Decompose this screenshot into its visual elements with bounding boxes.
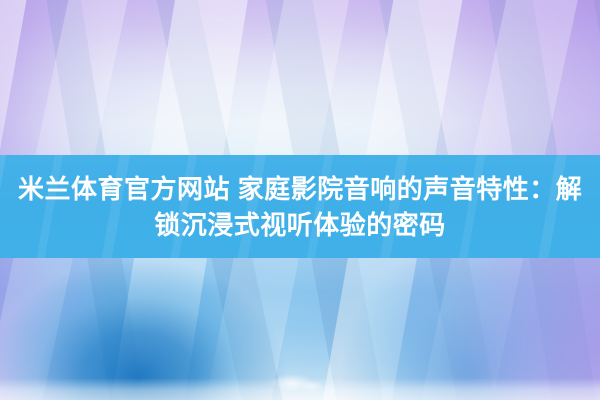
- title-band: 米兰体育官方网站 家庭影院音响的声音特性：解 锁沉浸式视听体验的密码: [0, 155, 600, 258]
- banner-title-line-1: 米兰体育官方网站 家庭影院音响的声音特性：解: [0, 171, 600, 207]
- banner-title-line-2: 锁沉浸式视听体验的密码: [0, 207, 600, 243]
- banner-image: 米兰体育官方网站 家庭影院音响的声音特性：解 锁沉浸式视听体验的密码: [0, 0, 600, 400]
